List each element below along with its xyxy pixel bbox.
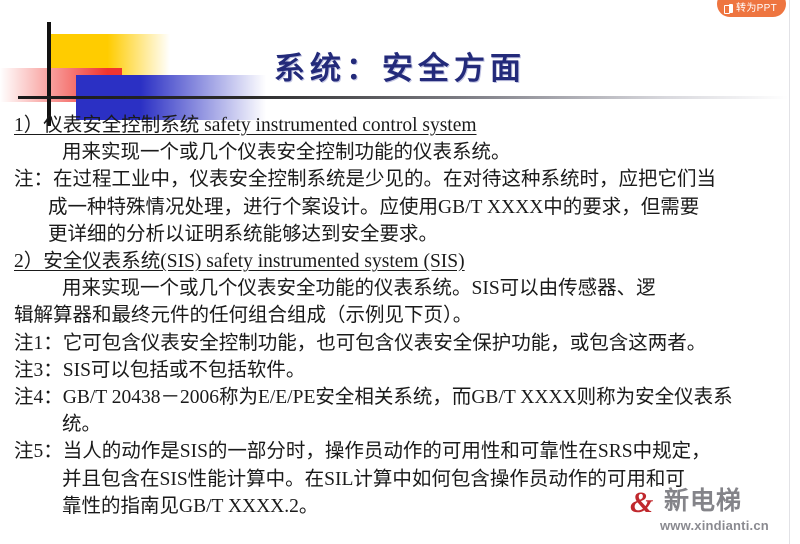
convert-to-ppt-icon [724, 4, 733, 13]
section-2-note-3: 注3：SIS可以包括或不包括软件。 [0, 357, 800, 384]
convert-to-ppt-label: 转为PPT [736, 4, 777, 14]
watermark-url: www.xindianti.cn [660, 518, 769, 533]
section-2-line-1: 用来实现一个或几个仪表安全功能的仪表系统。SIS可以由传感器、逻 [0, 275, 800, 302]
section-2-heading: 2）安全仪表系统(SIS) safety instrumented system… [14, 248, 465, 275]
motif-horizontal-rule [18, 96, 788, 99]
page-title: 系统：安全方面 [0, 43, 800, 88]
section-2-note-5-line-2: 并且包含在SIS性能计算中。在SIL计算中如何包含操作员动作的可用和可 [0, 466, 800, 493]
section-1-note-line-1: 注：在过程工业中，仪表安全控制系统是少见的。在对待这种系统时，应把它们当 [0, 166, 800, 193]
section-2-note-1: 注1：它可包含仪表安全控制功能，也可包含仪表安全保护功能，或包含这两者。 [0, 330, 800, 357]
section-2: 2）安全仪表系统(SIS) safety instrumented system… [0, 248, 800, 275]
section-2-note-4-line-1: 注4：GB/T 20438－2006称为E/E/PE安全相关系统，而GB/T X… [0, 384, 800, 411]
section-2-line-2: 辑解算器和最终元件的任何组合组成（示例见下页）。 [0, 302, 800, 329]
section-1-line-1: 用来实现一个或几个仪表安全控制功能的仪表系统。 [0, 139, 800, 166]
section-1-heading: 1）仪表安全控制系统 safety instrumented control s… [14, 112, 477, 139]
section-1-note-line-2: 成一种特殊情况处理，进行个案设计。应使用GB/T XXXX中的要求，但需要 [0, 194, 800, 221]
slide-canvas: 系统：安全方面 1）仪表安全控制系统 safety instrumented c… [0, 0, 800, 544]
convert-to-ppt-button[interactable]: 转为PPT [717, 0, 786, 17]
section-1-note-line-3: 更详细的分析以证明系统能够达到安全要求。 [0, 221, 800, 248]
section-2-note-4-line-2: 统。 [0, 411, 800, 438]
section-2-note-5-line-1: 注5：当人的动作是SIS的一部分时，操作员动作的可用性和可靠性在SRS中规定， [0, 438, 800, 465]
slide-body: 1）仪表安全控制系统 safety instrumented control s… [0, 112, 800, 520]
page-outer-margin [790, 0, 800, 544]
section-2-note-5-line-3: 靠性的指南见GB/T XXXX.2。 [0, 493, 800, 520]
section-1: 1）仪表安全控制系统 safety instrumented control s… [0, 112, 800, 139]
